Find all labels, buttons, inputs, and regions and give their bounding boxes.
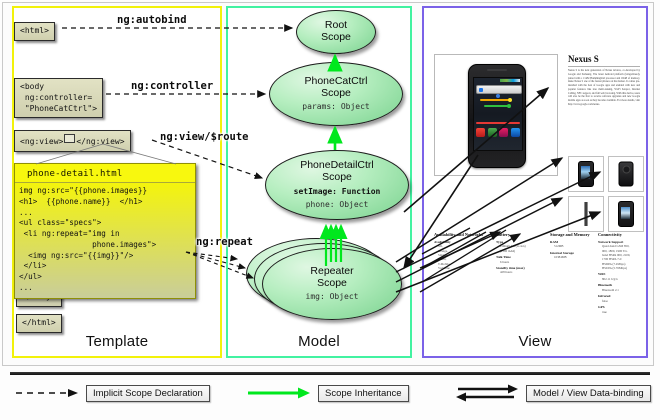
scope-phonedetailctrl-prop-phone: phone: Object <box>306 200 369 210</box>
ngview-slot-icon <box>64 134 75 143</box>
spec-value-gps-0: true <box>598 310 642 314</box>
scope-root-name-line2: Scope <box>321 32 351 44</box>
legend-dashed-arrow-icon <box>12 384 80 402</box>
tag-ngview: <ng:view></ng:view> <box>14 130 131 152</box>
spec-table: Availability and Networks Availability M… <box>432 232 640 328</box>
scope-repeater-name-line2: Scope <box>317 278 347 290</box>
phone-search-widget-icon <box>476 85 522 94</box>
phone-app-icon-2 <box>488 128 497 137</box>
sticky-filename: phone-detail.html <box>15 166 195 182</box>
spec-heading-storage: Storage and Memory <box>550 232 604 238</box>
spec-value-infrared-0: false <box>598 299 642 303</box>
legend-green-arrow-icon <box>244 384 312 402</box>
spec-column-connectivity: Connectivity Network Support Quad-band G… <box>598 232 642 314</box>
phone-wallpaper-dot-3 <box>507 104 511 108</box>
panel-label-model: Model <box>228 333 410 350</box>
phone-screen <box>473 77 523 151</box>
view-content: Nexus S Nexus S is the next generation o… <box>430 14 640 334</box>
ngview-close-text: </ng:view> <box>76 137 124 146</box>
spec-heading-availability: Availability and Networks <box>434 232 486 238</box>
thumbnail-phone-angled[interactable] <box>608 196 644 232</box>
ngview-open-text: <ng:view> <box>20 137 63 146</box>
spec-value-ram-0: 512MB <box>550 244 604 248</box>
spec-value-battery-type-1: (1500 mAh) <box>496 249 544 253</box>
legend: Implicit Scope Declaration Scope Inherit… <box>0 372 660 420</box>
thumbnail-phone-edge[interactable] <box>568 196 604 232</box>
sticky-phone-detail: phone-detail.html img ng:src="{{phone.im… <box>14 163 196 299</box>
phone-app-icon-3 <box>499 128 508 137</box>
legend-label-scope-inheritance: Scope Inheritance <box>318 385 409 402</box>
phone-wallpaper-line-1 <box>480 99 510 101</box>
spec-value-battery-standby-0: 428 hours <box>496 270 544 274</box>
spec-heading-battery: Battery <box>496 232 544 238</box>
legend-label-data-binding: Model / View Data-binding <box>526 385 651 402</box>
legend-item-scope-inheritance: Scope Inheritance <box>244 384 409 402</box>
panel-label-view: View <box>424 333 646 350</box>
spec-value-network-5: HSUPA (5.76Mbps) <box>598 266 642 270</box>
spec-value-bluetooth-0: Bluetooth 2.1 <box>598 288 642 292</box>
product-description: Nexus S is the next generation of Nexus … <box>568 69 640 107</box>
phone-app-icons <box>476 128 520 138</box>
spec-column-battery: Battery Type Lithium Ion (Li-Ion) (1500 … <box>496 232 544 275</box>
phone-statusbar <box>500 79 520 82</box>
spec-heading-connectivity: Connectivity <box>598 232 642 238</box>
scope-phonedetailctrl-prop-setimage: setImage: Function <box>294 187 381 197</box>
legend-item-implicit-scope: Implicit Scope Declaration <box>12 384 210 402</box>
phone-app-icon-4 <box>511 128 520 137</box>
legend-double-arrow-icon <box>452 384 520 402</box>
phone-wallpaper-line-3 <box>476 122 520 124</box>
tag-body-open: <body ng:controller= "PhoneCatCtrl"> <box>14 78 103 118</box>
scope-phonedetailctrl-name-line2: Scope <box>322 172 352 184</box>
phone-back-icon <box>619 162 634 187</box>
label-ng-view-route: ng:view/$route <box>160 131 249 143</box>
spec-value-availability-5: Vodafone <box>434 266 486 270</box>
label-ng-controller: ng:controller <box>131 80 213 92</box>
legend-divider <box>10 372 650 375</box>
scope-phonecatctrl-name-line1: PhoneCatCtrl <box>304 76 367 88</box>
phone-angled-icon <box>618 201 634 227</box>
phone-app-icon-1 <box>476 128 485 137</box>
scope-repeater-name-line1: Repeater <box>310 266 353 278</box>
spec-column-storage: Storage and Memory RAM 512MB Internal St… <box>550 232 604 260</box>
scope-phonedetailctrl: PhoneDetailCtrl Scope setImage: Function… <box>265 150 409 220</box>
phone-device-graphic <box>468 64 526 168</box>
label-ng-repeat: ng:repeat <box>196 236 253 248</box>
phone-edge-icon <box>585 202 588 226</box>
spec-column-availability: Availability and Networks Availability M… <box>434 232 486 270</box>
panel-label-template: Template <box>14 333 220 350</box>
diagram-canvas: Template <html> <body ng:controller= "Ph… <box>0 0 660 420</box>
legend-label-implicit-scope: Implicit Scope Declaration <box>86 385 210 402</box>
phone-wallpaper-dot-2 <box>508 98 512 102</box>
legend-item-data-binding: Model / View Data-binding <box>452 384 651 402</box>
sticky-code: img ng:src="{{phone.images}} <h1> {{phon… <box>15 182 195 298</box>
thumbnail-phone-back[interactable] <box>608 156 644 192</box>
spec-value-battery-talktime-0: 6 hours <box>496 260 544 264</box>
scope-root: Root Scope <box>296 10 376 54</box>
spec-value-internal-storage-0: 16384MB <box>550 255 604 259</box>
scope-phonecatctrl-name-line2: Scope <box>321 88 351 100</box>
scope-phonecatctrl-prop-params: params: Object <box>302 102 369 112</box>
phone-front-icon <box>578 161 594 187</box>
scope-phonecatctrl: PhoneCatCtrl Scope params: Object <box>269 62 403 126</box>
label-ng-autobind: ng:autobind <box>117 14 187 26</box>
phone-wallpaper-dot-1 <box>496 94 500 98</box>
hero-phone-image <box>434 54 558 176</box>
spec-value-wifi-0: 802.11 b/g/n <box>598 277 642 281</box>
scope-repeater: Repeater Scope img: Object <box>262 248 402 320</box>
thumbnail-phone-front[interactable] <box>568 156 604 192</box>
product-title-rule <box>568 66 640 67</box>
phone-speaker <box>487 69 507 71</box>
product-title: Nexus S <box>568 54 599 64</box>
scope-repeater-prop-img: img: Object <box>306 292 359 302</box>
tag-html-close: </html> <box>16 314 62 333</box>
tag-html-open: <html> <box>14 22 55 41</box>
